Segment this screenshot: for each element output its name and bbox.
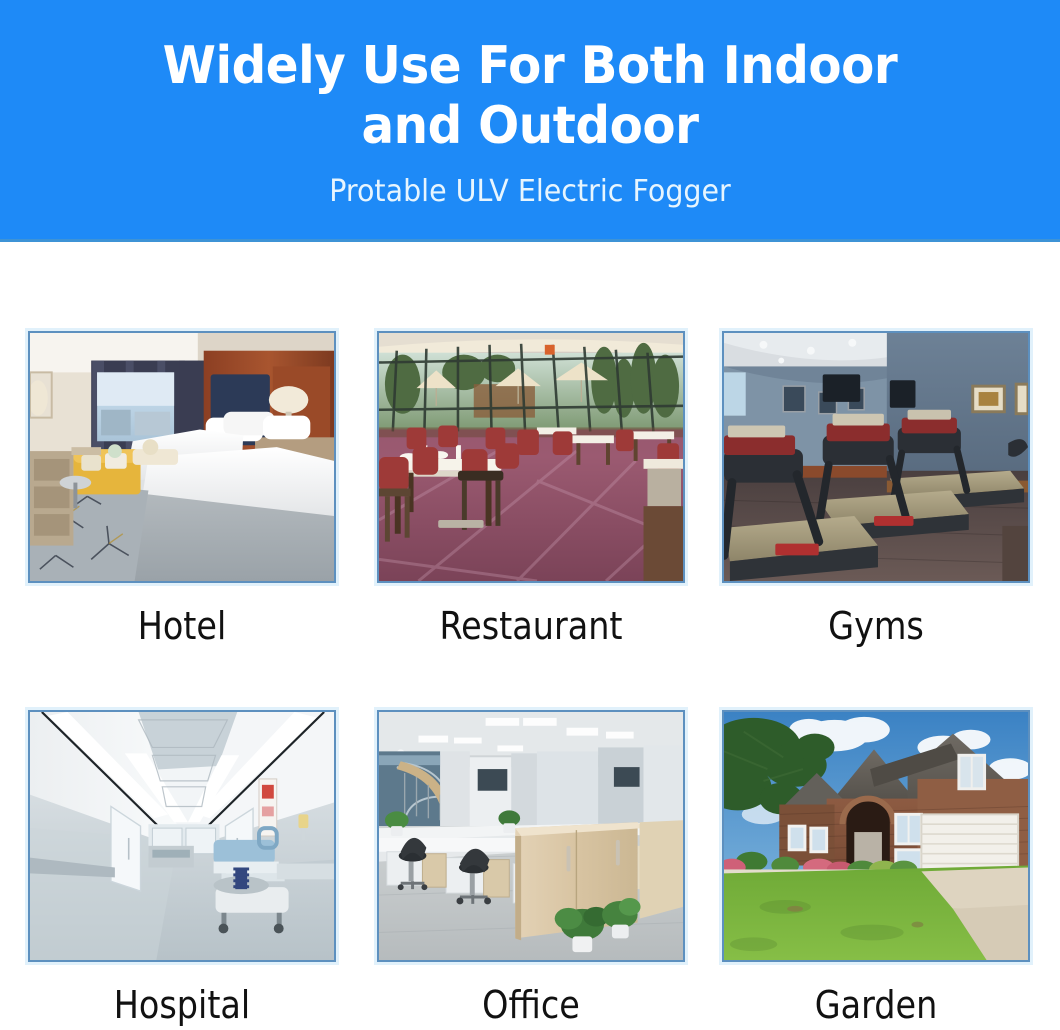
hotel-caption: Hotel bbox=[46, 603, 317, 649]
garden-house-illustration bbox=[724, 712, 1028, 960]
hotel-thumbnail bbox=[28, 331, 336, 583]
restaurant-thumbnail bbox=[377, 331, 685, 583]
garden-thumbnail bbox=[722, 710, 1030, 962]
office-workspace-illustration bbox=[379, 712, 683, 960]
gyms-caption: Gyms bbox=[740, 603, 1011, 649]
gym-treadmills-illustration bbox=[724, 333, 1028, 581]
gallery-item-garden: Garden bbox=[722, 710, 1030, 1028]
gallery-item-gyms: Gyms bbox=[722, 331, 1030, 649]
page-subtitle: Protable ULV Electric Fogger bbox=[27, 156, 1034, 210]
gallery-item-restaurant: Restaurant bbox=[377, 331, 685, 649]
restaurant-dining-illustration bbox=[379, 333, 683, 581]
gallery-item-hotel: Hotel bbox=[28, 331, 336, 649]
gyms-thumbnail bbox=[722, 331, 1030, 583]
hospital-corridor-illustration bbox=[30, 712, 334, 960]
office-thumbnail bbox=[377, 710, 685, 962]
restaurant-caption: Restaurant bbox=[395, 603, 666, 649]
office-caption: Office bbox=[395, 982, 666, 1028]
use-case-gallery: Hotel bbox=[0, 242, 1060, 1030]
hospital-caption: Hospital bbox=[46, 982, 317, 1028]
hotel-room-illustration bbox=[30, 333, 334, 581]
header-banner: Widely Use For Both Indoor and Outdoor P… bbox=[0, 0, 1060, 242]
page-title: Widely Use For Both Indoor and Outdoor bbox=[37, 0, 1023, 156]
hospital-thumbnail bbox=[28, 710, 336, 962]
promo-page: Widely Use For Both Indoor and Outdoor P… bbox=[0, 0, 1060, 1030]
gallery-item-hospital: Hospital bbox=[28, 710, 336, 1028]
garden-caption: Garden bbox=[740, 982, 1011, 1028]
gallery-item-office: Office bbox=[377, 710, 685, 1028]
